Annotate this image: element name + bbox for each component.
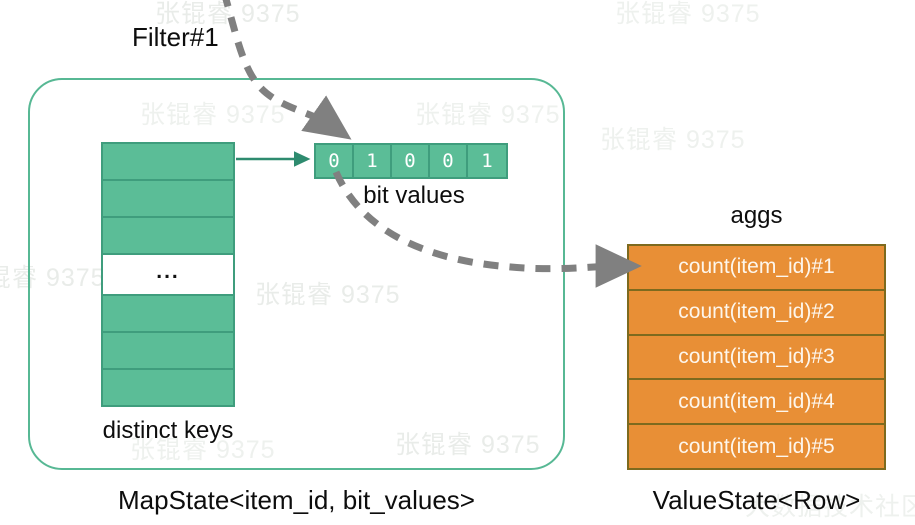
keys-row <box>103 296 233 333</box>
agg-row: count(item_id)#3 <box>629 336 884 381</box>
keys-row <box>103 144 233 181</box>
keys-row <box>103 181 233 218</box>
watermark: 张锟睿 9375 <box>600 120 746 156</box>
bit-cell: 0 <box>392 145 430 177</box>
agg-row: count(item_id)#1 <box>629 246 884 291</box>
bit-cell: 1 <box>354 145 392 177</box>
agg-row: count(item_id)#2 <box>629 291 884 336</box>
aggs-label: aggs <box>627 202 886 230</box>
mapstate-caption: MapState<item_id, bit_values> <box>28 485 565 516</box>
aggs-box: count(item_id)#1count(item_id)#2count(it… <box>627 244 886 470</box>
bit-values-array: 01001 <box>314 143 508 179</box>
agg-row: count(item_id)#4 <box>629 380 884 425</box>
bit-cell: 0 <box>430 145 468 177</box>
keys-row <box>103 218 233 255</box>
keys-row <box>103 333 233 370</box>
keys-ellipsis-row: ... <box>103 255 233 297</box>
distinct-keys-label: distinct keys <box>101 417 235 445</box>
bit-values-label: bit values <box>314 182 514 210</box>
watermark: 张锟睿 9375 <box>615 0 761 30</box>
bit-cell: 0 <box>316 145 354 177</box>
keys-row <box>103 370 233 405</box>
diagram-canvas: 张锟睿 9375张锟睿 9375张锟睿 9375张锟睿 9375张锟睿 9375… <box>0 0 915 525</box>
valuestate-caption: ValueState<Row> <box>627 485 886 516</box>
bit-cell: 1 <box>468 145 506 177</box>
distinct-keys-stack: ... <box>101 142 235 407</box>
agg-row: count(item_id)#5 <box>629 425 884 468</box>
filter-label: Filter#1 <box>132 22 219 53</box>
